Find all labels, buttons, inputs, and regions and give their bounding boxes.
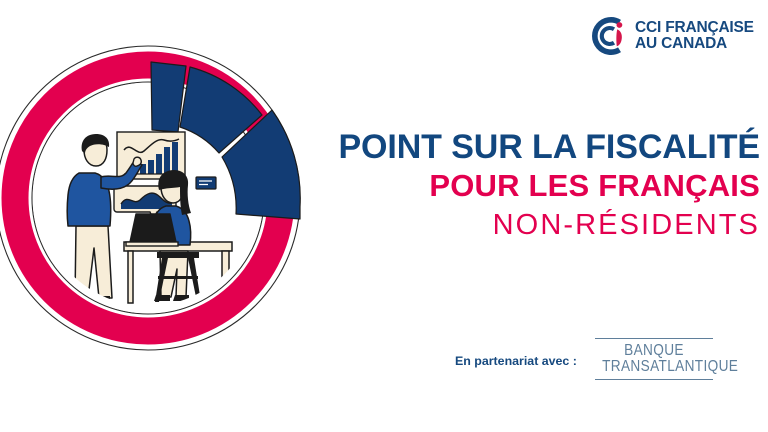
partnership-block: En partenariat avec : BANQUE TRANSATLANT… bbox=[455, 330, 755, 388]
bt-rule-bottom bbox=[595, 379, 713, 381]
office-team-donut-chart-illustration bbox=[0, 14, 352, 366]
cci-logo: CCI FRANÇAISE AU CANADA bbox=[588, 12, 748, 60]
cci-wordmark-line-2: AU CANADA bbox=[635, 36, 754, 52]
illustration-svg bbox=[0, 14, 352, 366]
bt-wordmark-line-2: TRANSATLANTIQUE bbox=[602, 359, 706, 375]
slide-canvas: CCI FRANÇAISE AU CANADA bbox=[0, 0, 768, 432]
page-title: POINT SUR LA FISCALITÉ POUR LES FRANÇAIS… bbox=[330, 128, 760, 245]
cci-logo-mark bbox=[588, 15, 628, 57]
title-line-1: POINT SUR LA FISCALITÉ bbox=[330, 128, 760, 166]
cci-wordmark: CCI FRANÇAISE AU CANADA bbox=[635, 20, 754, 52]
title-line-2: POUR LES FRANÇAIS bbox=[330, 166, 760, 206]
partnership-label: En partenariat avec : bbox=[455, 350, 577, 368]
small-blue-note bbox=[196, 177, 216, 189]
cci-wordmark-line-1: CCI FRANÇAISE bbox=[635, 20, 754, 36]
title-line-3: NON-RÉSIDENTS bbox=[330, 206, 760, 245]
bt-wordmark-line-1: BANQUE bbox=[602, 343, 706, 359]
banque-transatlantique-logo: BANQUE TRANSATLANTIQUE bbox=[595, 338, 713, 381]
bt-wordmark: BANQUE TRANSATLANTIQUE bbox=[595, 339, 713, 379]
